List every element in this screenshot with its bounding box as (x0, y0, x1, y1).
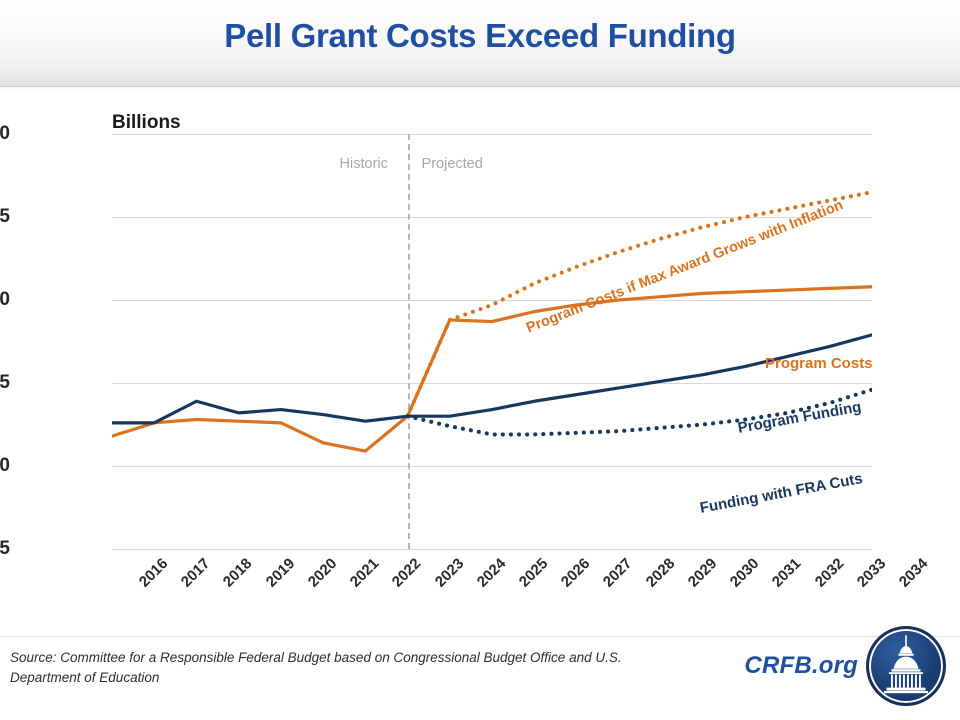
page-title: Pell Grant Costs Exceed Funding (0, 17, 960, 55)
y-axis-tick-label: $40 (0, 123, 10, 145)
y-axis-tick-label: $25 (0, 372, 10, 394)
x-axis-ticks: 2016201720182019202020212022202320242025… (112, 549, 872, 619)
slide-root: Pell Grant Costs Exceed Funding Billions… (0, 0, 960, 720)
x-axis-tick-label: 2030 (727, 555, 763, 591)
x-axis-tick-label: 2022 (389, 555, 425, 591)
x-axis-tick-label: 2024 (474, 555, 510, 591)
title-band: Pell Grant Costs Exceed Funding (0, 0, 960, 87)
x-axis-tick-label: 2034 (896, 555, 932, 591)
x-axis-tick-label: 2025 (516, 555, 552, 591)
y-axis-tick-label: $20 (0, 455, 10, 477)
x-axis-tick-label: 2033 (854, 555, 890, 591)
x-axis-tick-label: 2028 (642, 555, 678, 591)
series-line-program_funding (112, 335, 872, 423)
series-label-program-costs: Program Costs (765, 355, 873, 372)
y-axis-unit-label: Billions (112, 112, 181, 134)
chart-area: Billions $15$20$25$30$35$40 Historic Pro… (0, 86, 960, 636)
y-axis-tick-label: $30 (0, 289, 10, 311)
x-axis-tick-label: 2016 (136, 555, 172, 591)
x-axis-tick-label: 2023 (431, 555, 467, 591)
x-axis-tick-label: 2027 (600, 555, 636, 591)
y-axis-tick-label: $15 (0, 538, 10, 560)
x-axis-tick-label: 2029 (685, 555, 721, 591)
x-axis-tick-label: 2019 (262, 555, 298, 591)
series-lines (112, 134, 872, 549)
capitol-dome-icon (869, 629, 943, 703)
x-axis-tick-label: 2017 (178, 555, 214, 591)
y-axis-tick-label: $35 (0, 206, 10, 228)
x-axis-tick-label: 2018 (220, 555, 256, 591)
brand-block: CRFB.org (744, 626, 946, 706)
plot-area: $15$20$25$30$35$40 Historic Projected (112, 134, 872, 549)
x-axis-tick-label: 2020 (305, 555, 341, 591)
x-axis-tick-label: 2026 (558, 555, 594, 591)
x-axis-tick-label: 2031 (769, 555, 805, 591)
capitol-dome-logo (866, 626, 946, 706)
x-axis-tick-label: 2032 (811, 555, 847, 591)
brand-text: CRFB.org (744, 652, 858, 680)
source-note: Source: Committee for a Responsible Fede… (10, 648, 670, 687)
x-axis-tick-label: 2021 (347, 555, 383, 591)
